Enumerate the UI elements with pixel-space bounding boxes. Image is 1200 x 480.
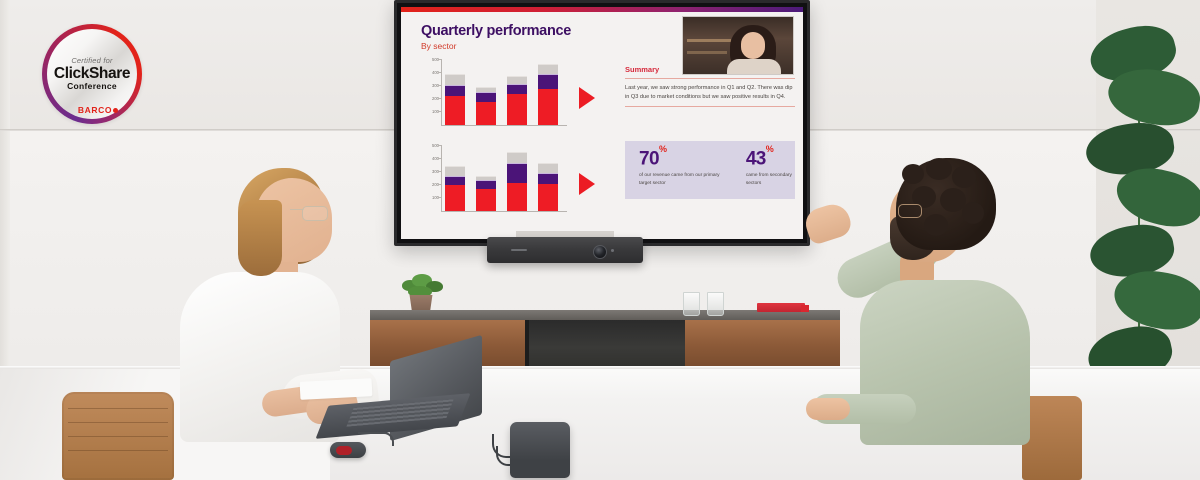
segment-primary-sector — [445, 185, 465, 211]
video-shelf-detail-2 — [687, 51, 727, 54]
stat-value-secondary: 43% — [746, 150, 795, 168]
segment-other — [507, 76, 527, 84]
clickshare-button-tray[interactable] — [510, 422, 570, 478]
y-tick-200: 200 — [419, 96, 439, 101]
bar-chart-bottom: 500 400 300 200 100 — [419, 145, 569, 225]
y-tick-500: 500 — [419, 57, 439, 62]
video-person-face — [741, 32, 765, 59]
man-glasses — [898, 204, 922, 218]
bar-q3 — [507, 152, 527, 211]
stat-value-primary: 70% — [639, 150, 724, 168]
segment-primary-sector — [476, 102, 496, 125]
notebook-accessory — [801, 305, 809, 312]
segment-primary-sector — [538, 89, 558, 125]
x-axis-line — [441, 211, 567, 212]
badge-line-conference: Conference — [67, 82, 117, 91]
stat-caption-primary: of our revenue came from our primary tar… — [639, 172, 724, 187]
status-led-icon — [611, 249, 614, 252]
potted-plant-foliage — [398, 272, 446, 298]
bar-group — [445, 59, 567, 125]
segment-secondary-sector — [538, 173, 558, 184]
video-bar-vent — [511, 249, 527, 251]
slide-title: Quarterly performance — [421, 23, 571, 39]
bar-q2 — [476, 176, 496, 211]
conference-video-bar[interactable] — [487, 237, 643, 263]
segment-secondary-sector — [507, 84, 527, 94]
clickshare-certified-badge: Certified for ClickShare Conference BARC… — [28, 22, 168, 127]
bar-q2 — [476, 87, 496, 125]
camera-lens-icon — [593, 245, 607, 259]
segment-primary-sector — [538, 184, 558, 211]
segment-secondary-sector — [445, 176, 465, 186]
badge-line-certified: Certified for — [71, 57, 112, 65]
slide-accent-bar — [401, 7, 803, 12]
segment-secondary-sector — [476, 180, 496, 189]
segment-other — [538, 163, 558, 173]
segment-primary-sector — [507, 183, 527, 211]
y-axis-line — [441, 59, 442, 125]
bar-q1 — [445, 74, 465, 125]
credenza-open-shelf — [525, 320, 693, 366]
woman-hair-side — [238, 200, 282, 276]
man-resting-hand — [806, 398, 850, 420]
segment-other — [538, 64, 558, 74]
segment-secondary-sector — [538, 74, 558, 89]
bar-q4 — [538, 163, 558, 211]
video-shelf-detail — [687, 39, 731, 42]
meeting-room-scene: Certified for ClickShare Conference BARC… — [0, 0, 1200, 480]
stat-block-primary: 70% of our revenue came from our primary… — [639, 150, 724, 199]
y-tick-100: 100 — [419, 109, 439, 114]
segment-primary-sector — [507, 94, 527, 125]
bar-q4 — [538, 64, 558, 125]
water-glass-2 — [707, 292, 724, 316]
badge-line-clickshare: ClickShare — [54, 66, 130, 82]
barco-wordmark: BARCO — [78, 105, 112, 115]
y-tick-200: 200 — [419, 182, 439, 187]
y-axis-line — [441, 145, 442, 211]
summary-body: Last year, we saw strong performance in … — [625, 84, 795, 102]
bar-q1 — [445, 166, 465, 211]
segment-other — [507, 152, 527, 163]
segment-secondary-sector — [507, 163, 527, 182]
leather-chair-right — [1022, 396, 1082, 480]
segment-primary-sector — [445, 96, 465, 125]
barco-logo: BARCO — [28, 105, 168, 115]
y-tick-300: 300 — [419, 83, 439, 88]
summary-rule-bottom — [625, 106, 795, 107]
y-tick-400: 400 — [419, 70, 439, 75]
stats-panel: 70% of our revenue came from our primary… — [625, 141, 795, 199]
y-tick-400: 400 — [419, 156, 439, 161]
stat-block-secondary: 43% came from secondary sectors — [746, 150, 795, 199]
y-tick-500: 500 — [419, 143, 439, 148]
water-glass-1 — [683, 292, 700, 316]
bar-chart-top: 500 400 300 200 100 — [419, 59, 569, 139]
bar-q3 — [507, 76, 527, 126]
summary-heading: Summary — [625, 65, 795, 74]
y-tick-100: 100 — [419, 195, 439, 200]
leather-chair-left — [62, 392, 174, 480]
segment-other — [445, 74, 465, 85]
summary-panel: Summary Last year, we saw strong perform… — [625, 65, 795, 112]
segment-other — [445, 166, 465, 176]
segment-secondary-sector — [445, 85, 465, 96]
slide-subtitle: By sector — [421, 41, 456, 51]
y-tick-300: 300 — [419, 169, 439, 174]
stat-caption-secondary: came from secondary sectors — [746, 172, 795, 187]
presentation-slide: Quarterly performance By sector 500 400 … — [401, 7, 803, 239]
segment-secondary-sector — [476, 92, 496, 102]
play-triangle-icon-bottom — [579, 173, 595, 195]
barco-dot-icon — [113, 108, 118, 113]
credenza-right-cabinet — [685, 320, 840, 366]
wall-left-edge — [0, 0, 10, 366]
woman-glasses — [302, 206, 328, 221]
summary-rule-top — [625, 78, 795, 79]
red-notebooks — [757, 303, 805, 312]
segment-primary-sector — [476, 189, 496, 211]
wall-display[interactable]: Quarterly performance By sector 500 400 … — [394, 0, 810, 246]
paper-sheet — [300, 378, 373, 400]
bar-group — [445, 145, 567, 211]
x-axis-line — [441, 125, 567, 126]
play-triangle-icon-top — [579, 87, 595, 109]
clickshare-button-ring-icon[interactable] — [336, 446, 352, 455]
